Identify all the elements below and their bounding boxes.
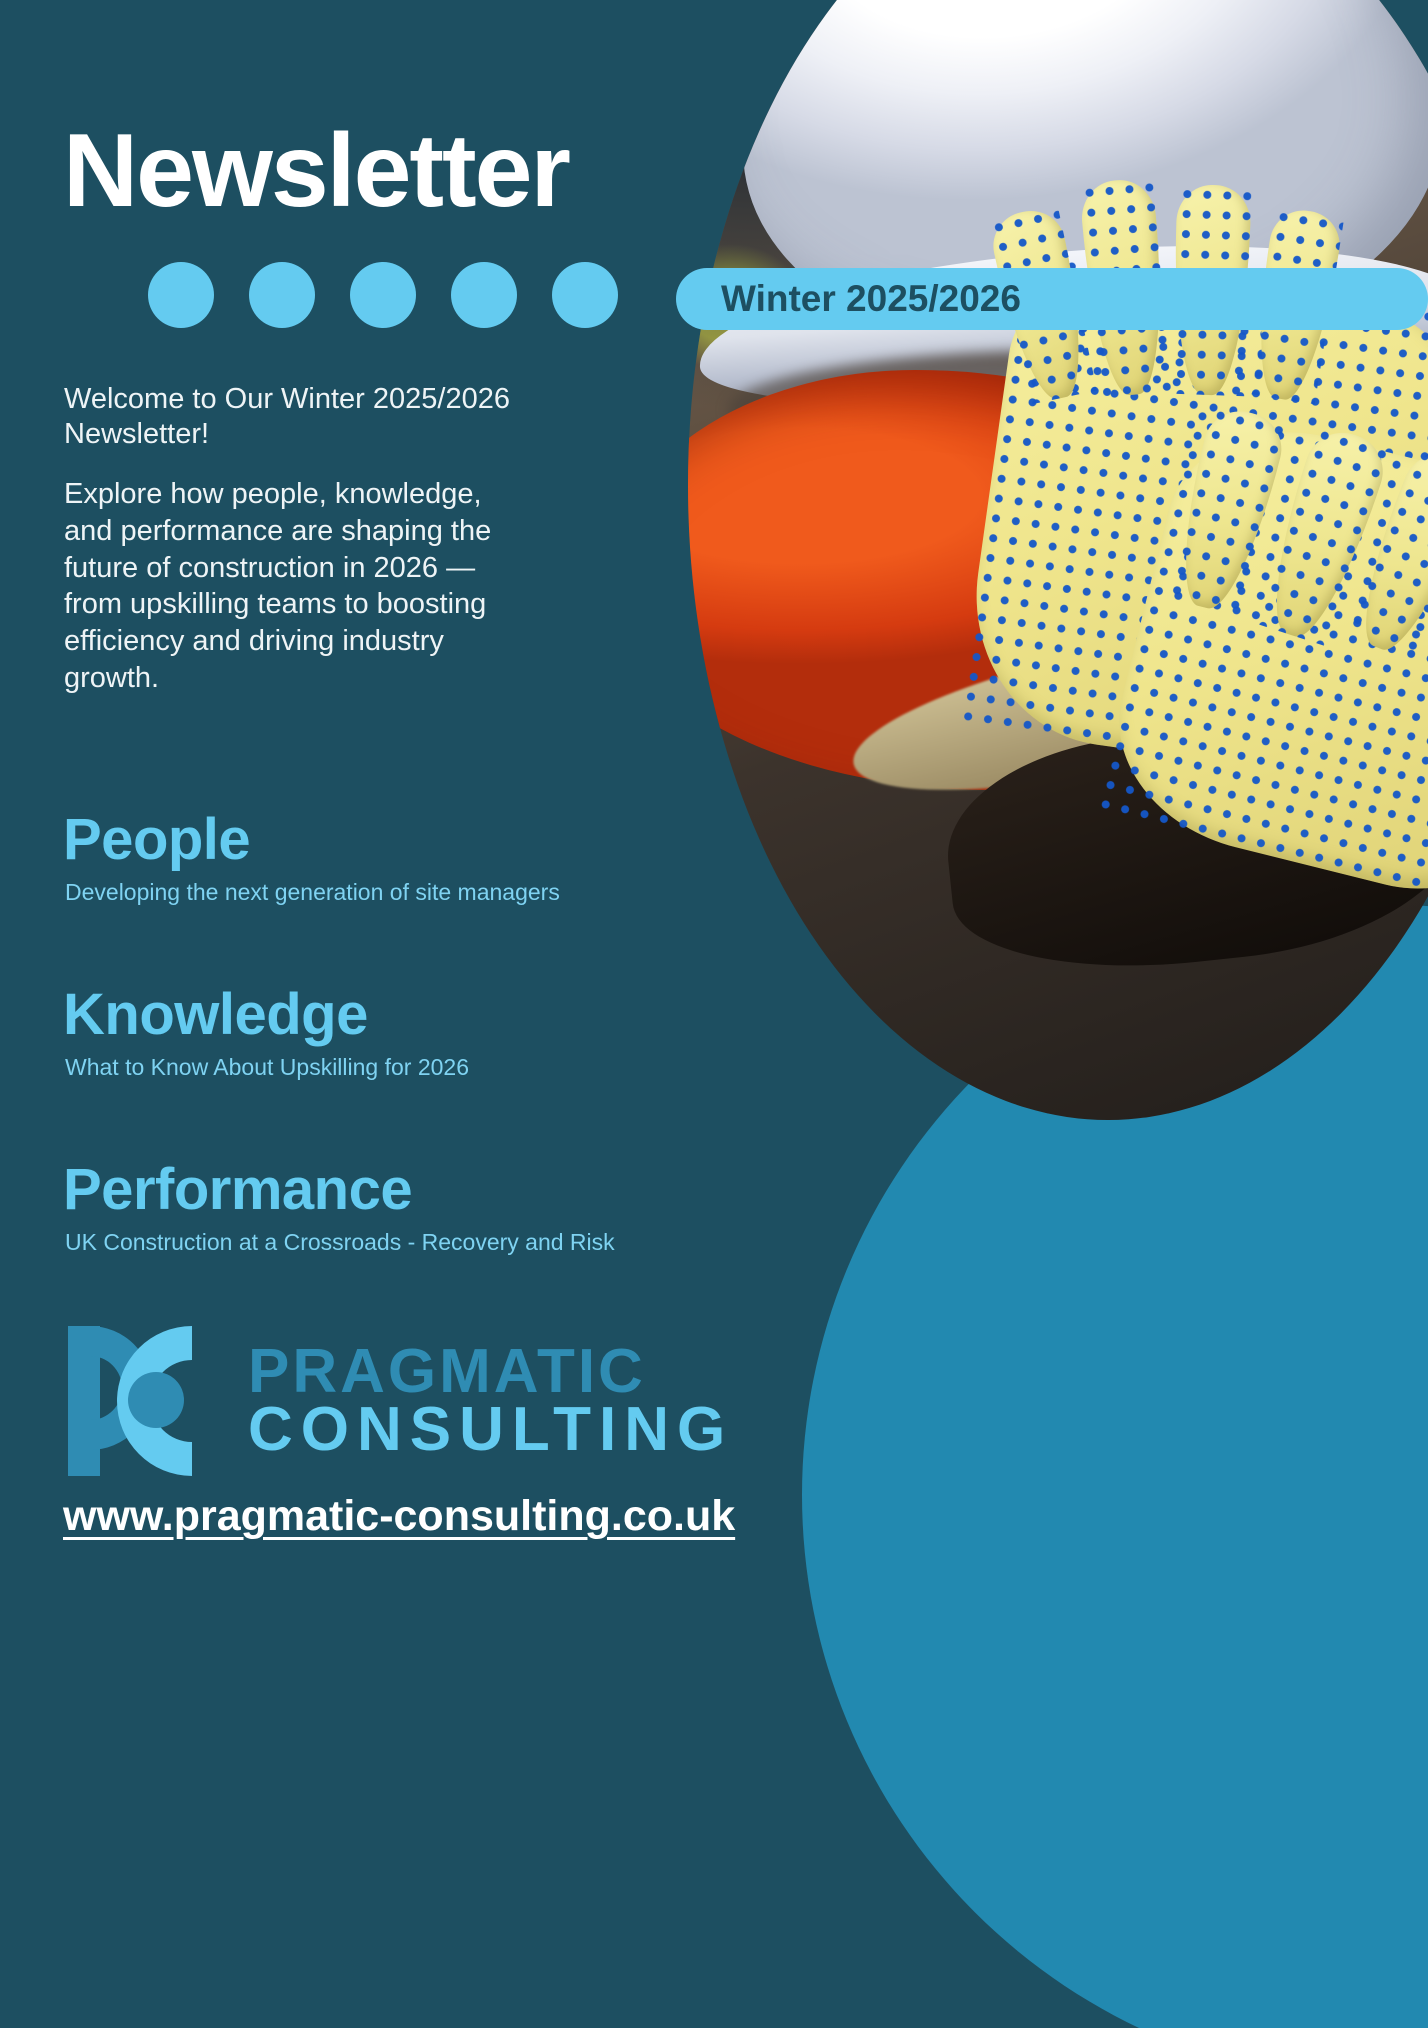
decorative-dot	[552, 262, 618, 328]
pragmatic-consulting-logo-icon	[60, 1320, 230, 1482]
section-subtitle-knowledge: What to Know About Upskilling for 2026	[65, 1054, 469, 1082]
page-title: Newsletter	[63, 119, 569, 223]
brand-wordmark-line1: PRAGMATIC	[248, 1343, 733, 1401]
decorative-dots-row	[148, 262, 618, 328]
website-url[interactable]: www.pragmatic-consulting.co.uk	[63, 1492, 735, 1541]
intro-body-text: Explore how people, knowledge, and perfo…	[64, 476, 534, 697]
season-badge-label: Winter 2025/2026	[721, 278, 1021, 320]
season-badge: Winter 2025/2026	[676, 268, 1428, 330]
section-heading-performance: Performance	[63, 1160, 615, 1221]
decorative-dot	[350, 262, 416, 328]
welcome-text: Welcome to Our Winter 2025/2026 Newslett…	[64, 382, 534, 453]
decorative-dot	[148, 262, 214, 328]
decorative-dot	[451, 262, 517, 328]
section-knowledge: Knowledge What to Know About Upskilling …	[63, 985, 469, 1081]
decorative-dot	[249, 262, 315, 328]
section-heading-knowledge: Knowledge	[63, 985, 469, 1046]
brand-wordmark-line2: CONSULTING	[248, 1401, 733, 1459]
section-people: People Developing the next generation of…	[63, 810, 560, 906]
section-heading-people: People	[63, 810, 560, 871]
brand-wordmark: PRAGMATIC CONSULTING	[248, 1343, 733, 1460]
section-subtitle-people: Developing the next generation of site m…	[65, 879, 560, 907]
content-layer: Newsletter Winter 2025/2026 Welcome to O…	[0, 0, 1428, 2028]
brand-logo: PRAGMATIC CONSULTING	[60, 1320, 733, 1482]
newsletter-cover-page: Newsletter Winter 2025/2026 Welcome to O…	[0, 0, 1428, 2028]
section-performance: Performance UK Construction at a Crossro…	[63, 1160, 615, 1256]
section-subtitle-performance: UK Construction at a Crossroads - Recove…	[65, 1229, 615, 1257]
